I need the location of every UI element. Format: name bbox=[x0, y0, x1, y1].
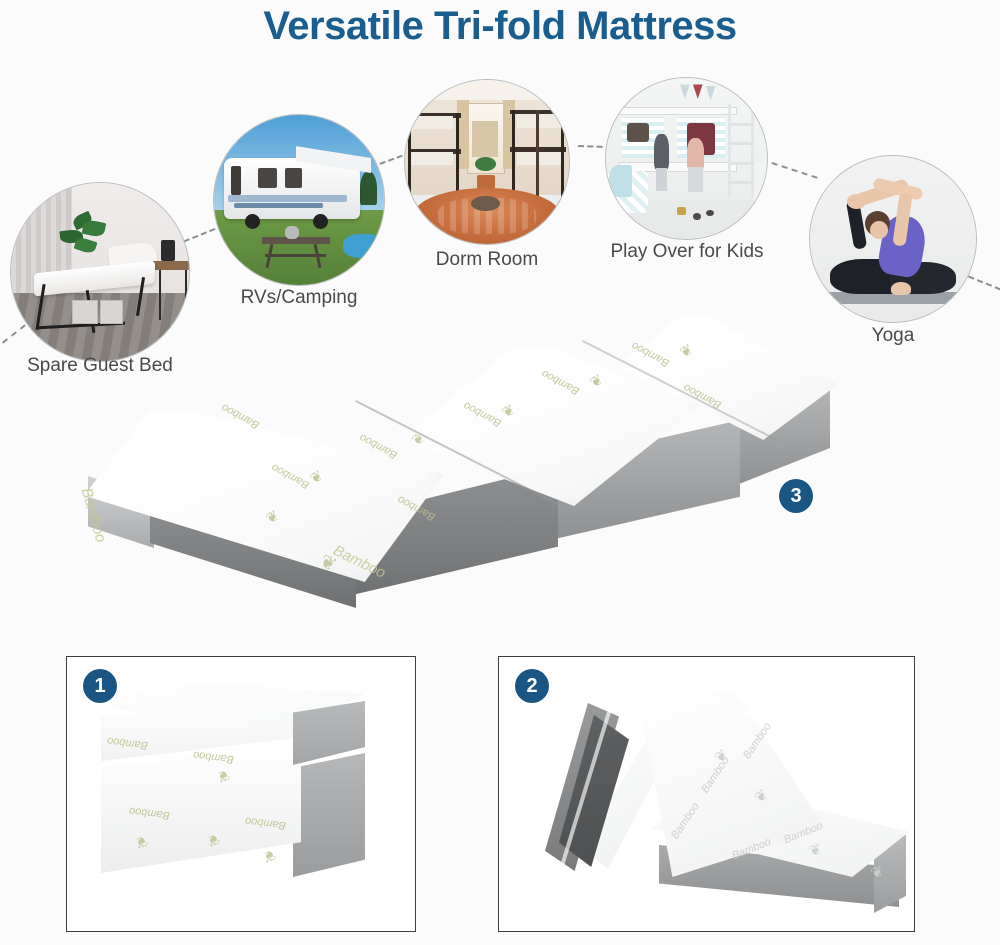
rv-camping-icon bbox=[213, 114, 385, 286]
step-panel-2: Bamboo Bamboo Bamboo Bamboo Bamboo ❦ ❦ ❦… bbox=[498, 656, 915, 932]
step-panel-1: Bamboo Bamboo Bamboo Bamboo ❦ ❦ ❦ ❦ 1 bbox=[66, 656, 416, 932]
page-title: Versatile Tri-fold Mattress bbox=[0, 4, 1000, 49]
usecase-label-dorm-room: Dorm Room bbox=[397, 249, 577, 271]
mattress-folded-illustration: Bamboo Bamboo Bamboo Bamboo ❦ ❦ ❦ ❦ bbox=[67, 657, 415, 931]
usecase-label-play-over-for-kids: Play Over for Kids bbox=[594, 241, 780, 263]
bamboo-leaf-icon: ❦ bbox=[260, 845, 278, 866]
step-badge-1: 1 bbox=[83, 669, 117, 703]
mattress-unfolded-illustration: Bamboo Bamboo Bamboo Bamboo Bamboo Bambo… bbox=[70, 280, 860, 640]
step-badge-3: 3 bbox=[779, 479, 813, 513]
folded-lower-end-face bbox=[293, 753, 365, 877]
mattress-partially-folded-illustration: Bamboo Bamboo Bamboo Bamboo Bamboo ❦ ❦ ❦… bbox=[499, 657, 914, 931]
kids-play-icon bbox=[605, 77, 768, 240]
folded-lower-front-face bbox=[101, 745, 301, 873]
dorm-room-icon bbox=[404, 79, 570, 245]
product-infographic: Versatile Tri-fold Mattress bbox=[0, 0, 1000, 945]
step-badge-2: 2 bbox=[515, 669, 549, 703]
